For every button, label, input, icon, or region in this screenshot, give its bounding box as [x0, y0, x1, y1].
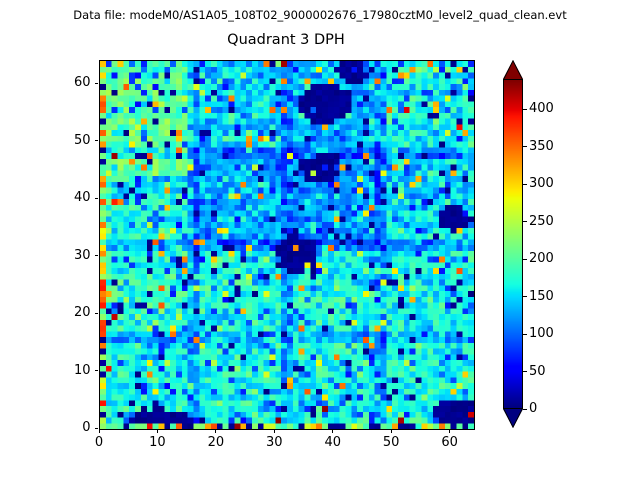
y-tick-mark [95, 140, 99, 141]
colorbar-tick-mark [523, 296, 527, 297]
x-tick-mark [391, 429, 392, 433]
x-tick-mark [332, 429, 333, 433]
x-tick-mark [99, 429, 100, 433]
colorbar-tick-mark [523, 221, 527, 222]
colorbar [503, 60, 523, 428]
x-tick-label: 60 [425, 435, 475, 450]
y-tick-label: 40 [39, 190, 91, 205]
x-tick-label: 30 [249, 435, 299, 450]
page-title: Quadrant 3 DPH [99, 32, 473, 48]
matplotlib-figure: Data file: modeM0/AS1A05_108T02_90000026… [0, 0, 640, 480]
colorbar-body [503, 79, 523, 409]
colorbar-tick-label: 0 [529, 401, 537, 416]
colorbar-tick-label: 100 [529, 326, 554, 341]
y-tick-label: 30 [39, 248, 91, 263]
x-tick-label: 0 [74, 435, 124, 450]
x-tick-mark [157, 429, 158, 433]
x-tick-label: 40 [308, 435, 358, 450]
x-tick-label: 50 [366, 435, 416, 450]
colorbar-tick-label: 300 [529, 176, 554, 191]
y-tick-label: 50 [39, 133, 91, 148]
colorbar-tick-label: 150 [529, 289, 554, 304]
y-tick-label: 20 [39, 305, 91, 320]
colorbar-tick-label: 250 [529, 214, 554, 229]
x-tick-label: 20 [191, 435, 241, 450]
y-tick-mark [95, 83, 99, 84]
colorbar-tick-label: 400 [529, 101, 554, 116]
x-tick-mark [274, 429, 275, 433]
y-tick-mark [95, 198, 99, 199]
colorbar-tick-mark [523, 146, 527, 147]
y-tick-mark [95, 255, 99, 256]
y-tick-mark [95, 428, 99, 429]
colorbar-extend-max-arrow [503, 60, 523, 79]
colorbar-tick-label: 350 [529, 139, 554, 154]
x-tick-mark [215, 429, 216, 433]
colorbar-tick-label: 50 [529, 364, 546, 379]
colorbar-tick-mark [523, 109, 527, 110]
colorbar-tick-mark [523, 409, 527, 410]
x-tick-label: 10 [132, 435, 182, 450]
colorbar-gradient [504, 80, 522, 408]
x-tick-mark [449, 429, 450, 433]
colorbar-tick-mark [523, 184, 527, 185]
colorbar-extend-min-arrow [503, 409, 523, 428]
colorbar-tick-mark [523, 371, 527, 372]
y-tick-label: 10 [39, 363, 91, 378]
data-file-suptitle: Data file: modeM0/AS1A05_108T02_90000026… [0, 8, 640, 22]
y-tick-mark [95, 370, 99, 371]
dph-heatmap-image [100, 61, 474, 429]
y-tick-label: 0 [39, 420, 91, 435]
dph-heatmap-axes [99, 60, 475, 430]
colorbar-tick-mark [523, 259, 527, 260]
colorbar-tick-label: 200 [529, 251, 554, 266]
y-tick-mark [95, 313, 99, 314]
colorbar-tick-mark [523, 334, 527, 335]
y-tick-label: 60 [39, 75, 91, 90]
